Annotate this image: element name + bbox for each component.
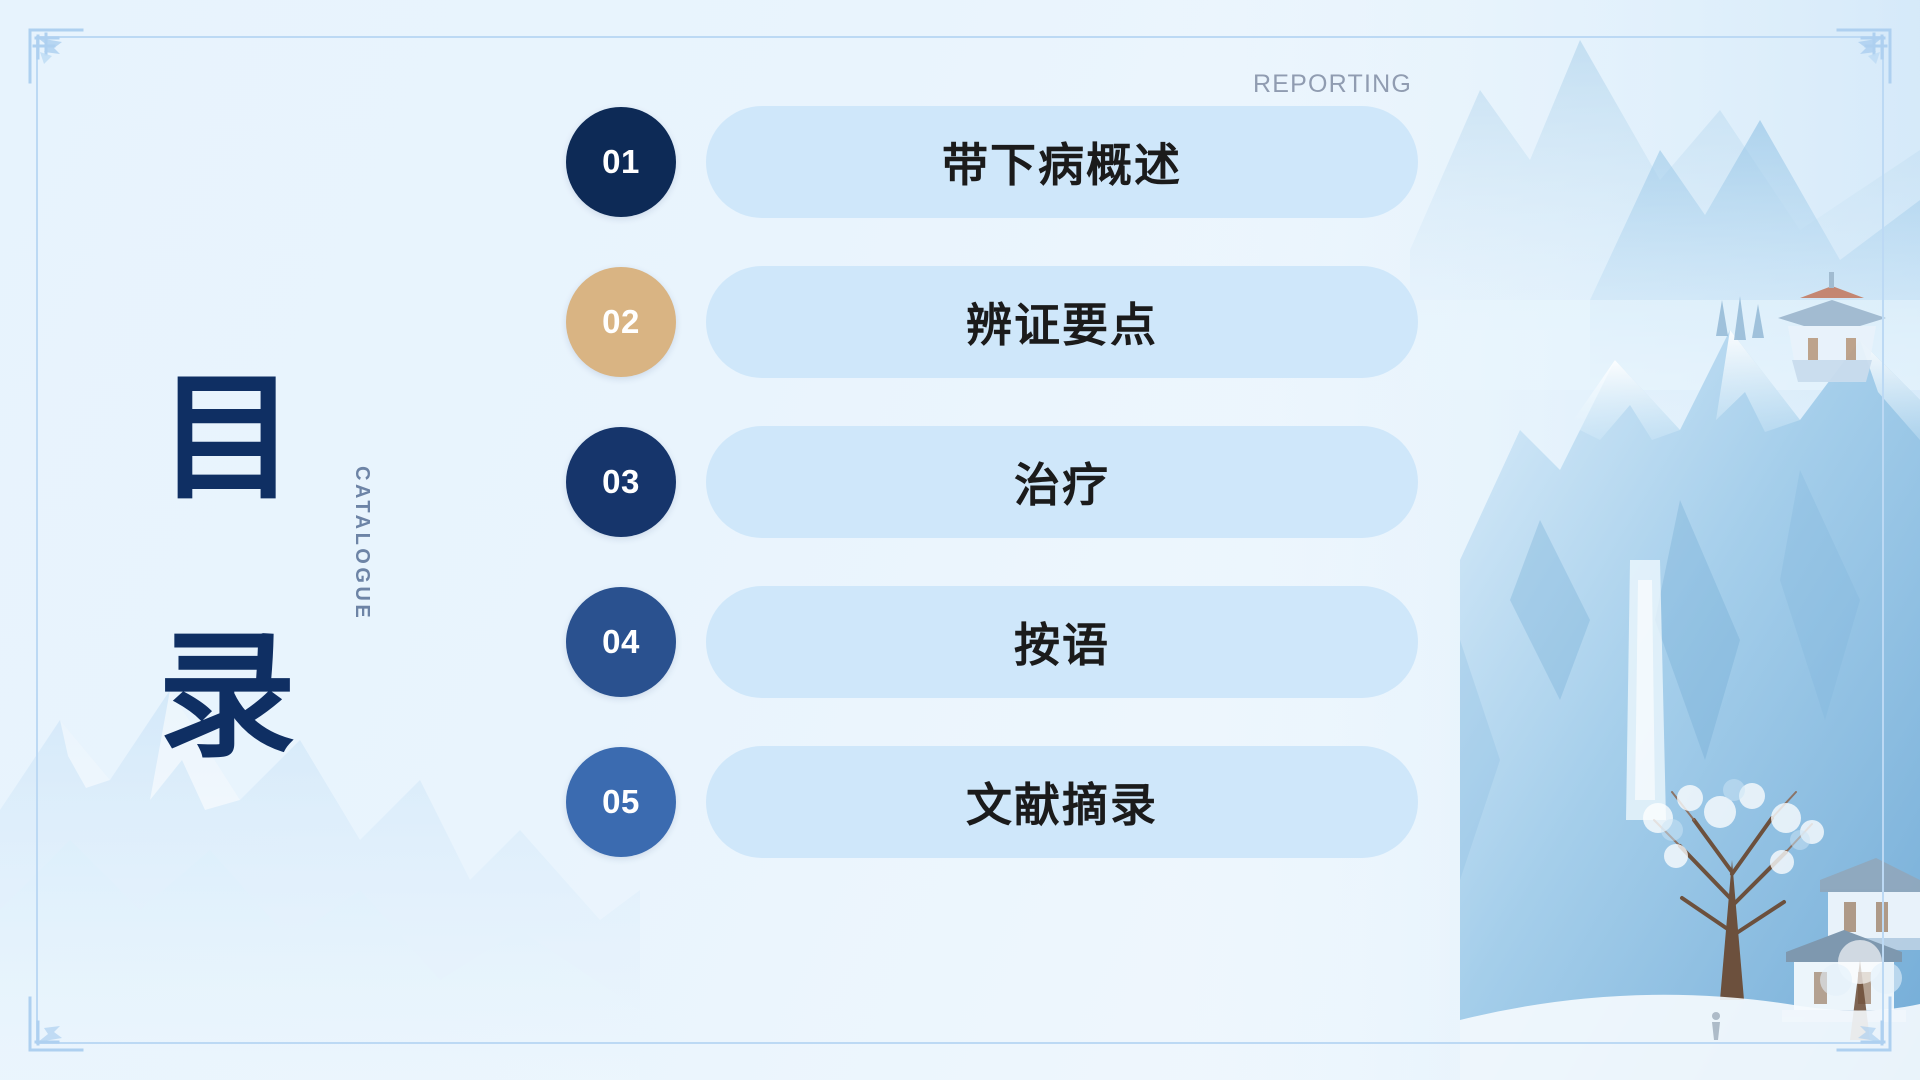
toc-pill-03[interactable]: 治疗 (706, 426, 1418, 538)
toc-item-02[interactable]: 02 辨证要点 (566, 266, 1418, 378)
toc-label-04: 按语 (1014, 609, 1110, 675)
toc-item-05[interactable]: 05 文献摘录 (566, 746, 1418, 858)
toc-number-badge-01: 01 (566, 107, 676, 217)
reporting-label: REPORTING (1253, 70, 1412, 99)
toc-pill-01[interactable]: 带下病概述 (706, 106, 1418, 218)
corner-ornament-icon (24, 992, 88, 1056)
toc-number-badge-02: 02 (566, 267, 676, 377)
bare-tree-foreground (1643, 779, 1824, 1000)
catalogue-title-block: 目 录 CATALOGUE (150, 370, 400, 790)
figure-silhouette (1712, 1012, 1720, 1040)
toc-number-badge-04: 04 (566, 587, 676, 697)
toc-pill-02[interactable]: 辨证要点 (706, 266, 1418, 378)
toc-item-04[interactable]: 04 按语 (566, 586, 1418, 698)
toc-item-03[interactable]: 03 治疗 (566, 426, 1418, 538)
table-of-contents-list: 01 带下病概述 02 辨证要点 03 治疗 04 按语 05 (566, 106, 1418, 858)
tree-cluster-bottom (1820, 940, 1902, 1040)
page-title-char-1: 目 (158, 370, 296, 508)
corner-ornament-icon (24, 24, 88, 88)
slide-canvas: REPORTING 目 录 CATALOGUE 01 带下病概述 02 辨证要点… (0, 0, 1920, 1080)
pagoda-upper (1778, 272, 1886, 382)
toc-number-badge-03: 03 (566, 427, 676, 537)
toc-item-01[interactable]: 01 带下病概述 (566, 106, 1418, 218)
toc-number-badge-05: 05 (566, 747, 676, 857)
catalogue-subtitle: CATALOGUE (350, 466, 373, 621)
toc-label-05: 文献摘录 (966, 769, 1158, 835)
toc-label-03: 治疗 (1014, 449, 1110, 515)
pagoda-village-lower (1782, 858, 1920, 1022)
tree-cluster-mid (1716, 296, 1764, 340)
page-title-char-2: 录 (158, 628, 296, 766)
toc-label-02: 辨证要点 (966, 289, 1158, 355)
toc-pill-05[interactable]: 文献摘录 (706, 746, 1418, 858)
toc-label-01: 带下病概述 (942, 129, 1182, 195)
corner-ornament-icon (1832, 992, 1896, 1056)
toc-pill-04[interactable]: 按语 (706, 586, 1418, 698)
corner-ornament-icon (1832, 24, 1896, 88)
